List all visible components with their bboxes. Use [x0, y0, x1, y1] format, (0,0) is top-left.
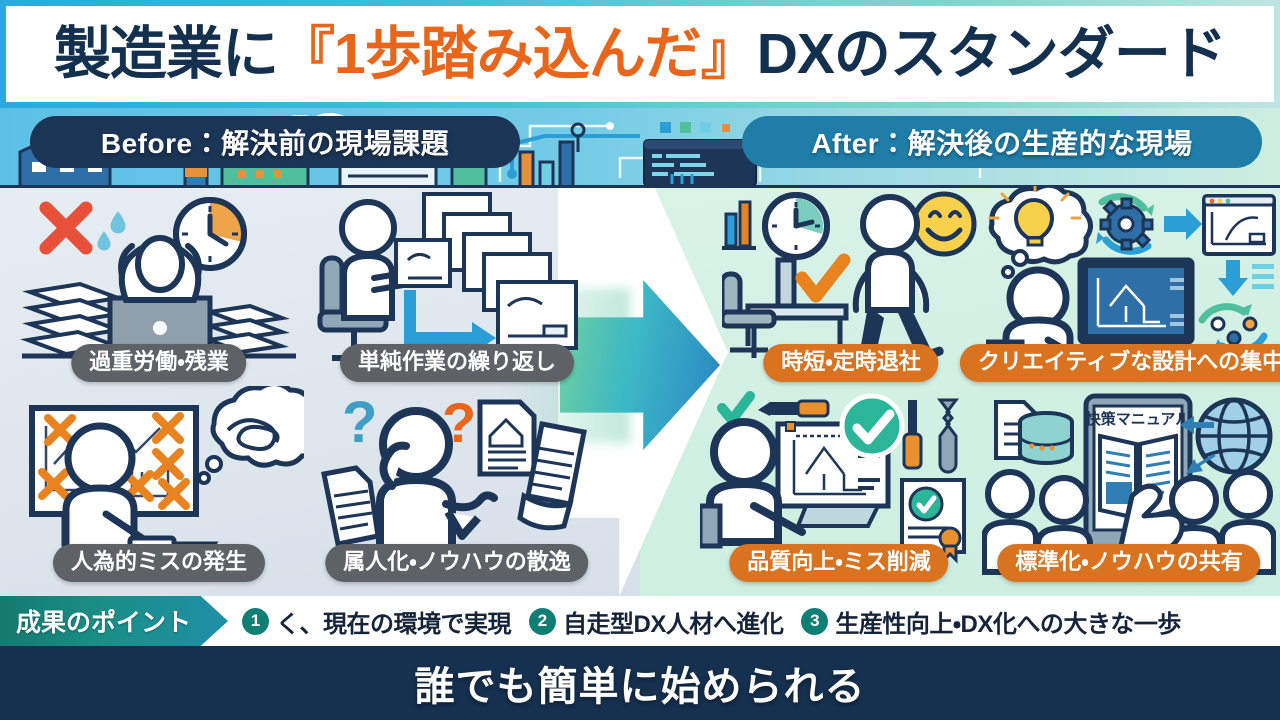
confused-person-icon — [380, 411, 494, 556]
result-number-1: 1 — [242, 608, 269, 635]
arrow-down-icon — [1218, 260, 1274, 296]
result-text-3: 生産性向上・DX化への大きな一歩 — [835, 604, 1181, 639]
after-cell-standardization: 快策マニュアル — [982, 386, 1276, 586]
cad-window-icon — [1204, 196, 1274, 254]
before-banner-label: Before：解決前の現場課題 — [101, 122, 449, 162]
tablet-manual-title: 快策マニュアル — [1086, 410, 1191, 428]
tangled-thought-bubble-icon — [199, 386, 304, 483]
after-cell-quality-up: 品質向上・ミス削減 — [700, 386, 978, 586]
clock-icon — [765, 195, 827, 257]
teal-check-icon — [722, 396, 750, 420]
before-label-repetitive: 単純作業の繰り返し — [340, 344, 574, 382]
title-accent: 1歩踏み込んだ — [334, 22, 701, 86]
before-label-overwork: 過重労働・残業 — [71, 344, 246, 382]
gear-cycle-icon — [1096, 197, 1154, 252]
globe-icon — [1198, 400, 1270, 472]
database-icon — [1020, 413, 1072, 463]
arrow-right-icon — [1164, 208, 1202, 240]
title-quote-open: 『 — [278, 22, 334, 86]
sweat-drop-icon — [98, 212, 125, 250]
results-tag: 成果のポイント — [0, 596, 228, 646]
question-mark-blue-icon: ? — [342, 390, 377, 455]
green-check-icon — [842, 396, 902, 456]
screwdriver-icon — [904, 400, 921, 468]
after-banner: After：解決後の生産的な現場 — [742, 116, 1262, 168]
after-label-leave-on-time: 時短・定時退社 — [763, 344, 938, 382]
before-label-siloed-knowledge: 属人化・ノウハウの散逸 — [325, 544, 588, 582]
smiley-face-icon — [914, 194, 974, 254]
title-segment-1: 製造業に — [54, 22, 278, 86]
infographic-root: 製造業に『1歩踏み込んだ』DXのスタンダード — [0, 0, 1280, 720]
before-cell-human-error: 人為的ミスの発生 — [14, 386, 304, 586]
title-bar: 製造業に『1歩踏み込んだ』DXのスタンダード — [0, 0, 1280, 108]
after-label-creative-design: クリエイティブな設計への集中 — [960, 344, 1280, 382]
main-panel: Before：解決前の現場課題 After：解決後の生産的な現場 — [0, 108, 1280, 596]
after-cell-leave-on-time: 時短・定時退社 — [722, 186, 980, 386]
results-items: 1 く、現在の環境で実現 2 自走型DX人材へ進化 3 生産性向上・DX化への大… — [228, 604, 1181, 639]
results-tag-label: 成果のポイント — [16, 603, 191, 639]
wrench-icon — [940, 400, 956, 472]
document-icon — [324, 468, 378, 544]
page-title: 製造業に『1歩踏み込んだ』DXのスタンダード — [54, 26, 1226, 83]
results-strip: 成果のポイント 1 く、現在の環境で実現 2 自走型DX人材へ進化 3 生産性向… — [0, 596, 1280, 646]
screwdriver-icon — [758, 401, 828, 416]
before-cell-overwork: 過重労働・残業 — [14, 186, 304, 386]
result-number-3: 3 — [801, 608, 828, 635]
office-chair-icon — [722, 274, 774, 350]
after-cell-creative-design: クリエイティブな設計への集中 — [986, 186, 1276, 386]
before-cell-siloed-knowledge: ? ? — [312, 386, 602, 586]
result-text-2: 自走型DX人材へ進化 — [563, 604, 783, 639]
result-item-1: 1 く、現在の環境で実現 — [242, 604, 511, 639]
result-item-3: 3 生産性向上・DX化への大きな一歩 — [801, 604, 1181, 639]
orange-check-icon — [802, 260, 844, 296]
after-banner-label: After：解決後の生産的な現場 — [811, 122, 1192, 162]
title-segment-2: DXのスタンダード — [757, 22, 1226, 86]
result-text-1: く、現在の環境で実現 — [276, 604, 511, 639]
title-bar-inner: 製造業に『1歩踏み込んだ』DXのスタンダード — [6, 6, 1274, 102]
chart-shelf-icon — [722, 202, 756, 248]
red-cross-icon — [46, 208, 86, 248]
result-number-2: 2 — [529, 608, 556, 635]
footer-bar: 誰でも簡単に始められる — [0, 646, 1280, 720]
before-label-human-error: 人為的ミスの発生 — [53, 544, 265, 582]
title-quote-close: 』 — [701, 22, 757, 86]
before-cell-repetitive: 単純作業の繰り返し — [312, 186, 602, 386]
after-label-standardization: 標準化・ノウハウの共有 — [997, 544, 1260, 582]
document-icon — [480, 402, 534, 474]
lightbulb-thought-bubble-icon — [990, 186, 1091, 277]
before-banner: Before：解決前の現場課題 — [30, 116, 520, 168]
after-label-quality-up: 品質向上・ミス削減 — [729, 544, 948, 582]
result-item-2: 2 自走型DX人材へ進化 — [529, 604, 783, 639]
footer-text: 誰でも簡単に始められる — [415, 654, 866, 712]
stressed-person-icon — [121, 238, 199, 300]
